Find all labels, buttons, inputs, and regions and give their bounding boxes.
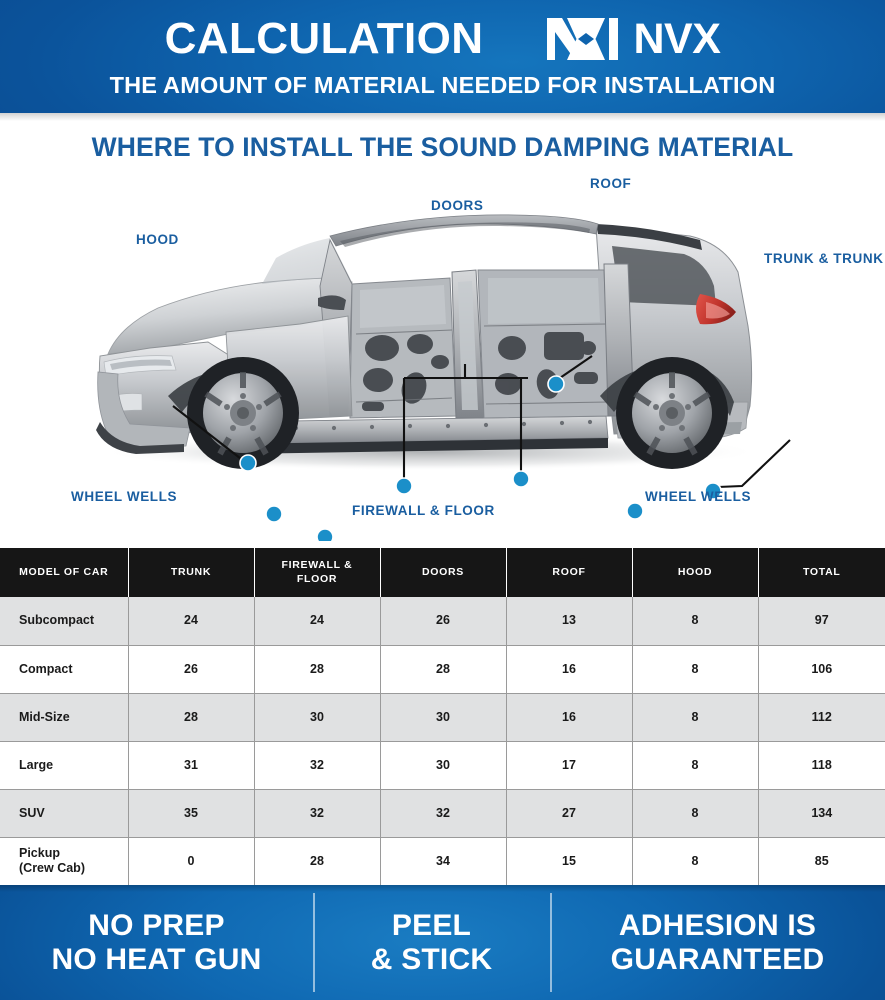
table-row: Mid-Size 28 30 30 16 8 112	[0, 693, 885, 741]
xnvx-bowtie-icon	[545, 16, 631, 62]
label-trunk-and-trunk-lid: TRUNK & TRUNK LID	[764, 251, 885, 267]
cell-hood: 8	[632, 789, 758, 837]
table-row: Pickup (Crew Cab) 0 28 34 15 8 85	[0, 837, 885, 885]
footer-cell-no-prep: NO PREP NO HEAT GUN	[0, 885, 313, 1000]
col-header-model: MODEL OF CAR	[0, 548, 128, 597]
material-table: MODEL OF CAR TRUNK FIREWALL & FLOOR DOOR…	[0, 548, 885, 885]
install-dot-roof	[548, 376, 564, 392]
cell-firewall: 32	[254, 789, 380, 837]
cell-total: 118	[758, 741, 885, 789]
cell-roof: 16	[506, 645, 632, 693]
cell-hood: 8	[632, 693, 758, 741]
footer-cell-peel-stick: PEEL & STICK	[313, 885, 550, 1000]
page-header: CALCULATION NVX THE AMOUNT OF MATERIAL N…	[0, 0, 885, 113]
brand-logo-text: NVX	[633, 18, 720, 61]
table-head: MODEL OF CAR TRUNK FIREWALL & FLOOR DOOR…	[0, 548, 885, 597]
front-wheel	[187, 357, 299, 469]
cell-roof: 17	[506, 741, 632, 789]
col-header-trunk: TRUNK	[128, 548, 254, 597]
footer-cell-adhesion: ADHESION IS GUARANTEED	[550, 885, 885, 1000]
cell-doors: 32	[380, 789, 506, 837]
cell-model: Pickup (Crew Cab)	[0, 837, 128, 885]
header-subtitle: THE AMOUNT OF MATERIAL NEEDED FOR INSTAL…	[0, 72, 885, 99]
cell-doors: 30	[380, 693, 506, 741]
install-dot-rear-quarter	[627, 503, 643, 519]
cell-model: Mid-Size	[0, 693, 128, 741]
brand-logo: NVX	[545, 16, 720, 62]
install-dot-firewall	[317, 529, 333, 541]
col-header-firewall-floor: FIREWALL & FLOOR	[254, 548, 380, 597]
install-dot-rear-door	[513, 471, 529, 487]
label-firewall-and-floor: FIREWALL & FLOOR	[352, 503, 495, 519]
material-table-wrap: MODEL OF CAR TRUNK FIREWALL & FLOOR DOOR…	[0, 548, 885, 885]
cell-model: Subcompact	[0, 597, 128, 645]
header-title-row: CALCULATION NVX	[0, 12, 885, 66]
cell-roof: 16	[506, 693, 632, 741]
cell-total: 106	[758, 645, 885, 693]
cell-model: Large	[0, 741, 128, 789]
footer-banner: NO PREP NO HEAT GUN PEEL & STICK ADHESIO…	[0, 885, 885, 1000]
cell-trunk: 35	[128, 789, 254, 837]
cell-doors: 34	[380, 837, 506, 885]
cell-roof: 13	[506, 597, 632, 645]
install-dot-hood	[240, 455, 256, 471]
cell-total: 134	[758, 789, 885, 837]
roof-panel	[330, 215, 598, 246]
cell-trunk: 31	[128, 741, 254, 789]
cell-firewall: 32	[254, 741, 380, 789]
cell-firewall: 28	[254, 645, 380, 693]
install-dot-front-door	[396, 478, 412, 494]
cell-total: 97	[758, 597, 885, 645]
section-title: WHERE TO INSTALL THE SOUND DAMPING MATER…	[0, 132, 885, 163]
cell-firewall: 28	[254, 837, 380, 885]
rear-wheel	[616, 357, 728, 469]
cell-firewall: 24	[254, 597, 380, 645]
label-wheel-wells-rear: WHEEL WELLS	[645, 489, 751, 505]
table-body: Subcompact 24 24 26 13 8 97 Compact 26 2…	[0, 597, 885, 885]
table-row: Large 31 32 30 17 8 118	[0, 741, 885, 789]
cell-roof: 15	[506, 837, 632, 885]
cell-hood: 8	[632, 837, 758, 885]
cell-hood: 8	[632, 645, 758, 693]
table-header-row: MODEL OF CAR TRUNK FIREWALL & FLOOR DOOR…	[0, 548, 885, 597]
table-row: Compact 26 28 28 16 8 106	[0, 645, 885, 693]
cell-hood: 8	[632, 741, 758, 789]
table-row: Subcompact 24 24 26 13 8 97	[0, 597, 885, 645]
cell-doors: 28	[380, 645, 506, 693]
car-diagram: HOOD DOORS ROOF TRUNK & TRUNK LID WHEEL …	[0, 166, 885, 541]
cell-trunk: 28	[128, 693, 254, 741]
label-doors: DOORS	[431, 198, 484, 214]
label-hood: HOOD	[136, 232, 179, 248]
header-shadow	[0, 113, 885, 121]
cell-roof: 27	[506, 789, 632, 837]
cell-firewall: 30	[254, 693, 380, 741]
label-roof: ROOF	[590, 176, 631, 192]
install-dot-front-fender	[266, 506, 282, 522]
label-wheel-wells-front: WHEEL WELLS	[71, 489, 177, 505]
page-title: CALCULATION	[165, 17, 484, 61]
cell-trunk: 26	[128, 645, 254, 693]
cell-total: 112	[758, 693, 885, 741]
cell-doors: 30	[380, 741, 506, 789]
cell-trunk: 0	[128, 837, 254, 885]
cell-total: 85	[758, 837, 885, 885]
cell-doors: 26	[380, 597, 506, 645]
car-diagram-svg	[0, 166, 885, 541]
col-header-total: TOTAL	[758, 548, 885, 597]
col-header-roof: ROOF	[506, 548, 632, 597]
cell-hood: 8	[632, 597, 758, 645]
col-header-hood: HOOD	[632, 548, 758, 597]
col-header-doors: DOORS	[380, 548, 506, 597]
table-row: SUV 35 32 32 27 8 134	[0, 789, 885, 837]
cell-model: SUV	[0, 789, 128, 837]
cell-trunk: 24	[128, 597, 254, 645]
cell-model: Compact	[0, 645, 128, 693]
